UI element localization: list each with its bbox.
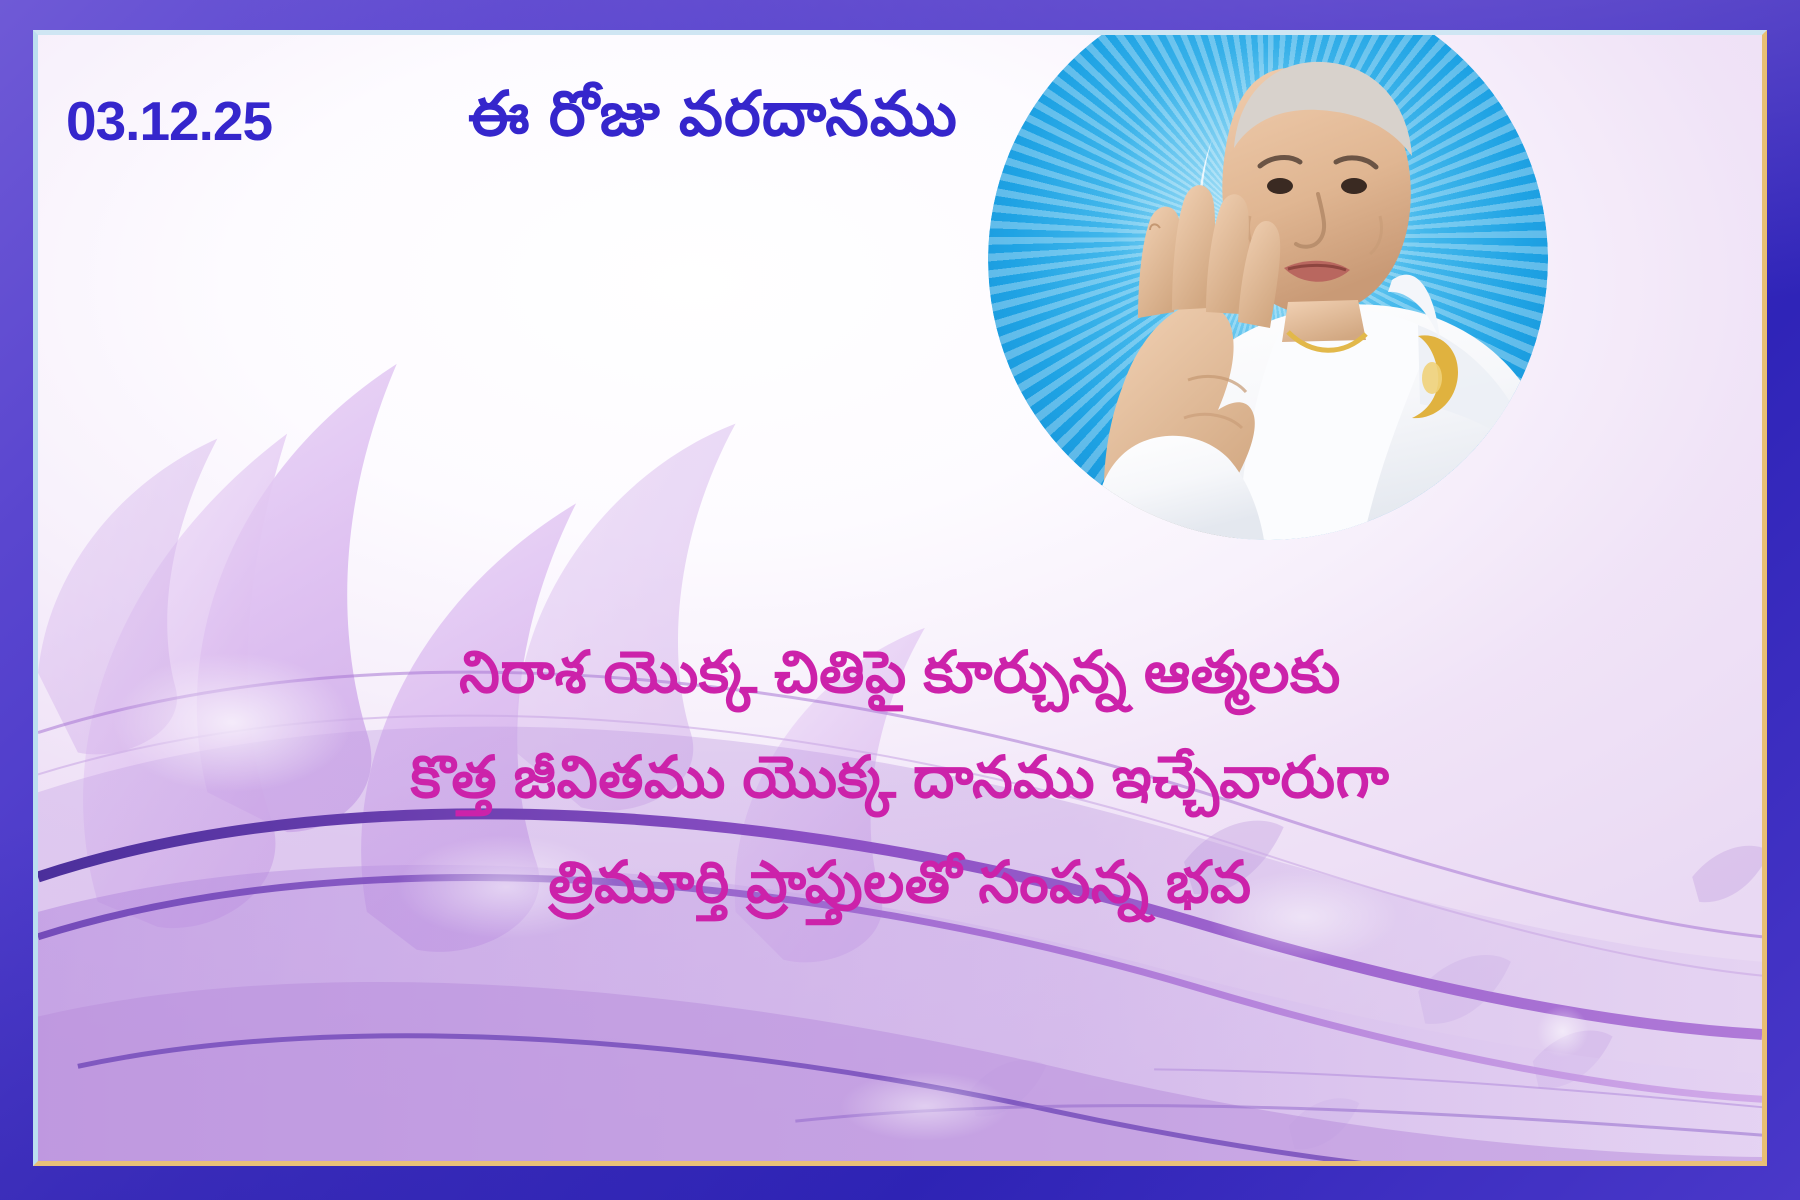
- avatar: [988, 35, 1548, 540]
- portrait-figure: [988, 35, 1548, 540]
- greeting-card: 03.12.25 ఈ రోజు వరదానము నిరాశ యొక్క చితి…: [0, 0, 1800, 1200]
- card-canvas: 03.12.25 ఈ రోజు వరదానము నిరాశ యొక్క చితి…: [38, 35, 1762, 1161]
- card-bevel-frame: 03.12.25 ఈ రోజు వరదానము నిరాశ యొక్క చితి…: [33, 30, 1767, 1166]
